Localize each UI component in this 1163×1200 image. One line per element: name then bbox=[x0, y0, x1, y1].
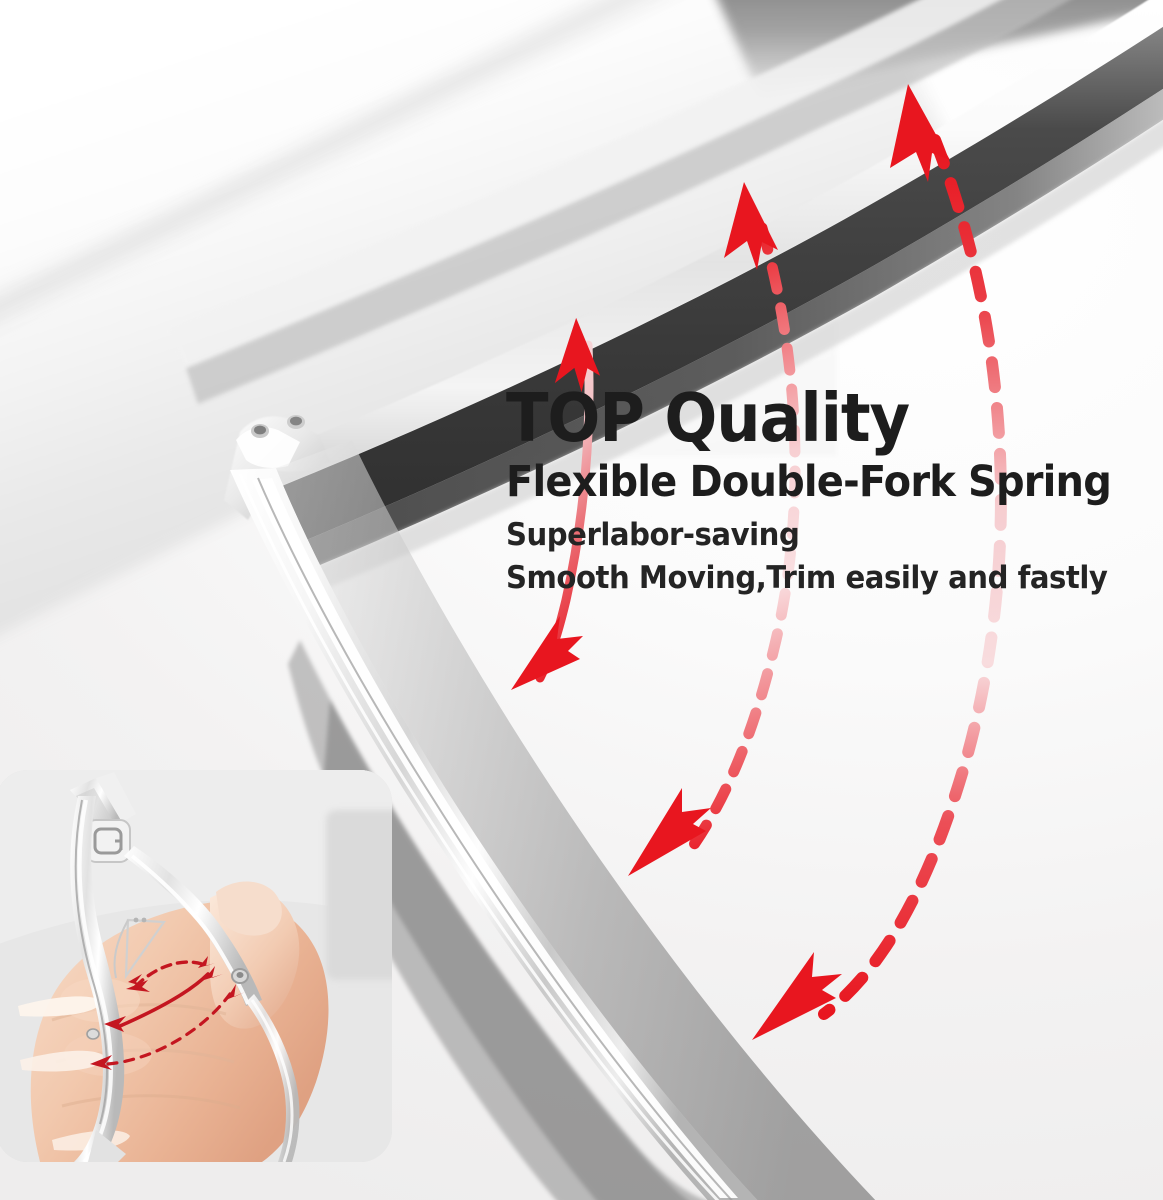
inset-hand-holding-nipper bbox=[0, 770, 392, 1162]
benefit-line-2: Smooth Moving,Trim easily and fastly bbox=[506, 558, 1079, 599]
benefit-line-1: Superlabor-saving bbox=[506, 515, 1079, 556]
headline-block: TOP Quality Flexible Double-Fork Spring … bbox=[506, 386, 1116, 599]
headline-subtitle: Flexible Double-Fork Spring bbox=[506, 460, 1073, 505]
inset-photo bbox=[0, 770, 392, 1162]
headline-title: TOP Quality bbox=[506, 386, 1073, 452]
product-feature-image: TOP Quality Flexible Double-Fork Spring … bbox=[0, 0, 1163, 1200]
